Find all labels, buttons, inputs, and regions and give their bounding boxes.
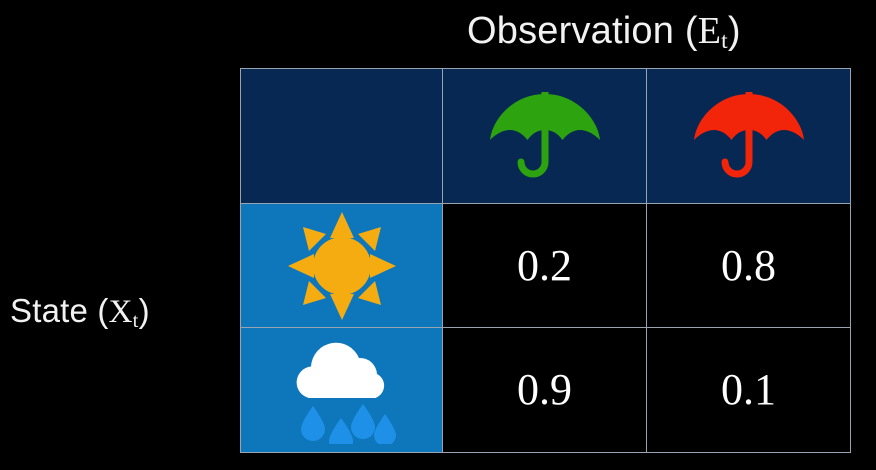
state-open-paren: ( — [88, 292, 109, 329]
value-cell: 0.2 — [443, 203, 647, 328]
value-cell: 0.9 — [443, 328, 647, 453]
sun-icon — [241, 204, 442, 328]
observation-open-paren: ( — [674, 10, 698, 52]
emission-probability-diagram: Observation (Et) State (Xt) — [0, 0, 876, 470]
probability-value: 0.8 — [721, 241, 776, 290]
umbrella-green-icon — [443, 69, 646, 203]
observation-symbol: E — [698, 10, 721, 52]
cloud-rain-icon — [241, 328, 442, 452]
state-cell-sun — [241, 203, 443, 328]
umbrella-red-icon — [647, 69, 850, 203]
probability-value: 0.1 — [721, 365, 776, 414]
state-cell-rain — [241, 328, 443, 453]
probability-value: 0.2 — [517, 241, 572, 290]
state-close-paren: ) — [139, 292, 150, 329]
table-row: 0.2 0.8 — [241, 203, 851, 328]
header-cell-umbrella — [647, 69, 851, 204]
probability-value: 0.9 — [517, 365, 572, 414]
observation-subscript: t — [721, 28, 728, 54]
state-symbol: X — [109, 294, 133, 330]
table-header-row — [241, 69, 851, 204]
state-subscript: t — [133, 310, 139, 332]
state-label-text: State — [10, 292, 88, 329]
state-axis-label: State (Xt) — [10, 290, 150, 337]
emission-probability-table: 0.2 0.8 — [240, 68, 851, 453]
observation-close-paren: ) — [728, 10, 741, 52]
table-row: 0.9 0.1 — [241, 328, 851, 453]
observation-label-text: Observation — [467, 10, 674, 52]
value-cell: 0.1 — [647, 328, 851, 453]
header-cell-no-umbrella — [443, 69, 647, 204]
observation-axis-label: Observation (Et) — [467, 8, 741, 59]
value-cell: 0.8 — [647, 203, 851, 328]
table-corner-cell — [241, 69, 443, 204]
